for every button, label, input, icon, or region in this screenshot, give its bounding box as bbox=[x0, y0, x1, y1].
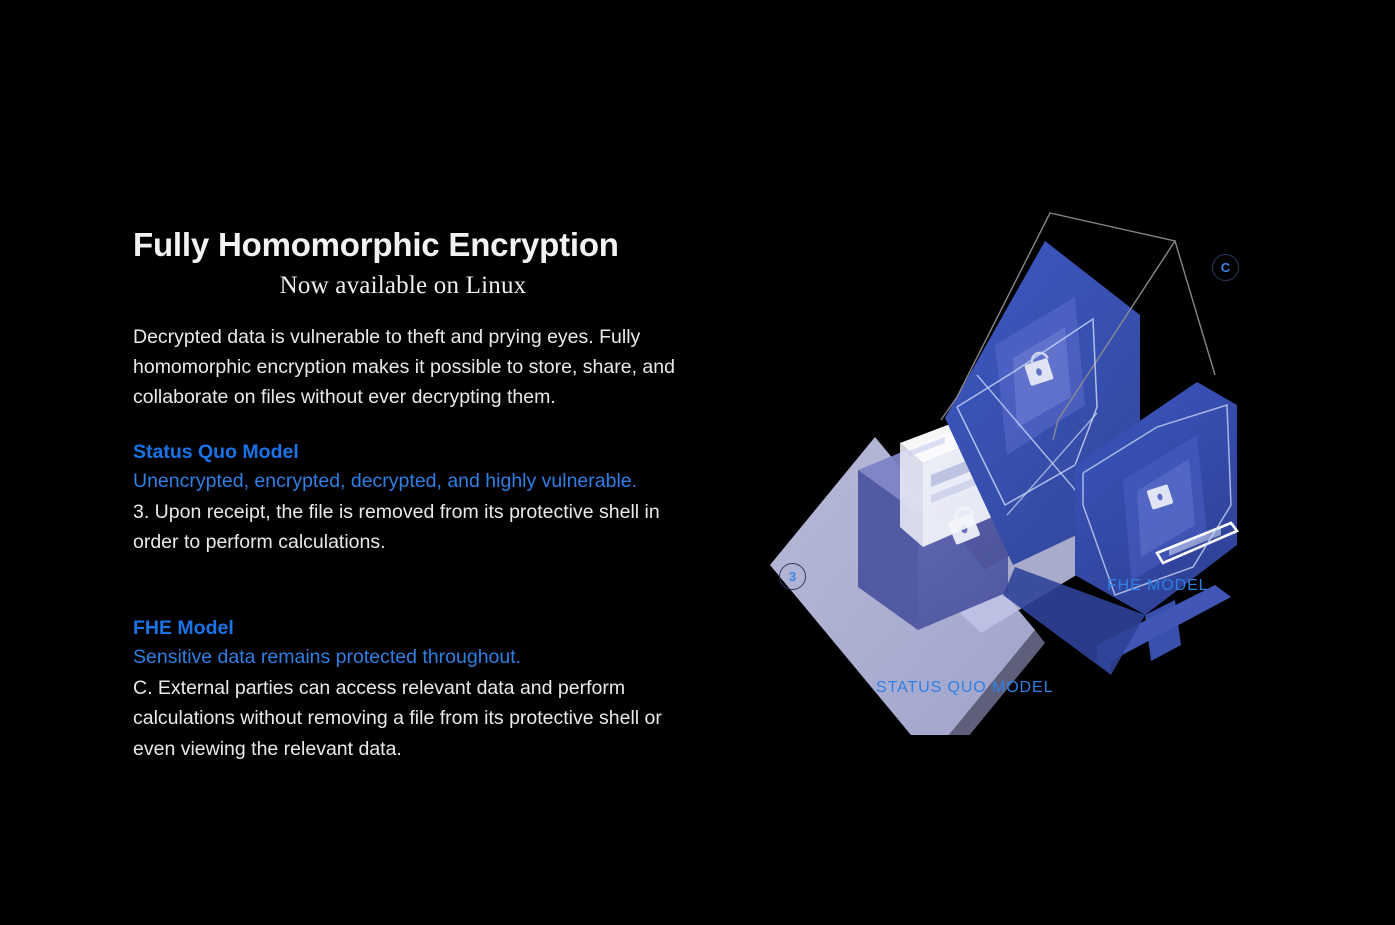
section-fhe-tagline: Sensitive data remains protected through… bbox=[133, 643, 723, 671]
section-fhe-body: C. External parties can access relevant … bbox=[133, 673, 705, 764]
section-fhe-heading: FHE Model bbox=[133, 615, 723, 642]
section-fhe: FHE Model Sensitive data remains protect… bbox=[133, 615, 723, 764]
intro-paragraph: Decrypted data is vulnerable to theft an… bbox=[133, 322, 705, 413]
badge-step-c[interactable]: C bbox=[1212, 254, 1239, 281]
section-status-quo: Status Quo Model Unencrypted, encrypted,… bbox=[133, 439, 723, 558]
encryption-illustration bbox=[745, 175, 1285, 735]
section-status-quo-heading: Status Quo Model bbox=[133, 439, 723, 466]
text-column: Fully Homomorphic Encryption Now availab… bbox=[133, 226, 723, 764]
illustration-svg bbox=[745, 175, 1285, 735]
label-fhe-model: FHE MODEL bbox=[1107, 577, 1208, 595]
badge-step-3[interactable]: 3 bbox=[779, 563, 806, 590]
section-status-quo-body: 3. Upon receipt, the file is removed fro… bbox=[133, 497, 705, 557]
page-subtitle: Now available on Linux bbox=[133, 272, 673, 300]
slide-canvas: Fully Homomorphic Encryption Now availab… bbox=[0, 0, 1395, 925]
label-status-quo-model: STATUS QUO MODEL bbox=[876, 679, 1053, 697]
section-status-quo-tagline: Unencrypted, encrypted, decrypted, and h… bbox=[133, 467, 723, 495]
page-title: Fully Homomorphic Encryption bbox=[133, 226, 723, 264]
